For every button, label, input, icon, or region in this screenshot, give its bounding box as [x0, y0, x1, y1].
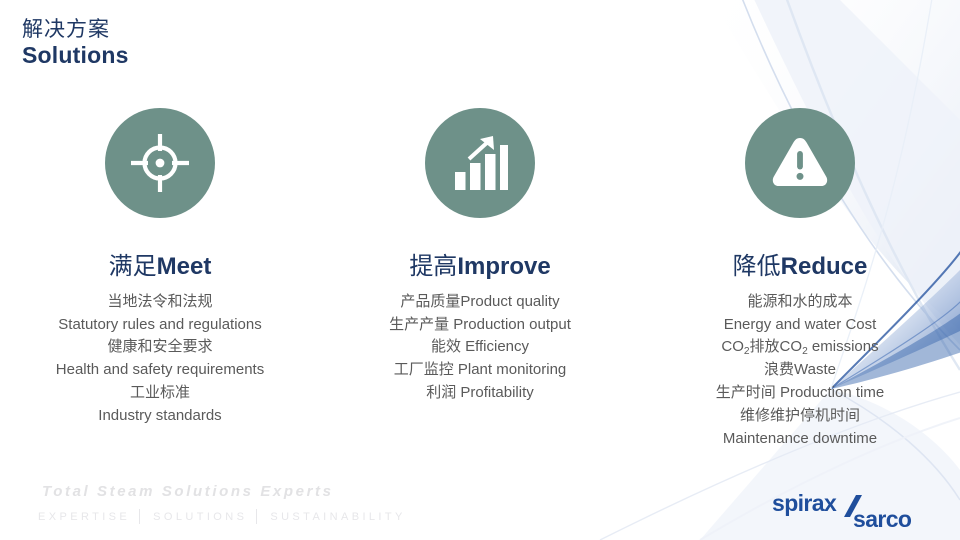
warning-triangle-icon-badge	[745, 108, 855, 218]
footer-pillar-solutions: SOLUTIONS	[153, 511, 247, 523]
solution-column-reduce: 降低Reduce 能源和水的成本 Energy and water Cost C…	[640, 108, 960, 450]
footer-pillar-sustainability: SUSTAINABILITY	[270, 511, 405, 523]
footer-divider	[256, 509, 257, 524]
list-item: 工业标准	[56, 382, 264, 405]
footer-divider	[139, 509, 140, 524]
list-item: 产品质量Product quality	[389, 291, 571, 314]
list-item: 利润 Profitability	[389, 382, 571, 405]
bar-chart-growth-icon-badge	[425, 108, 535, 218]
solution-column-meet: 满足Meet 当地法令和法规 Statutory rules and regul…	[0, 108, 320, 450]
list-item: 能效 Efficiency	[389, 336, 571, 359]
list-item: 浪费Waste	[716, 359, 884, 382]
list-item: 工厂监控 Plant monitoring	[389, 359, 571, 382]
list-item: 维修维护停机时间	[716, 405, 884, 428]
list-item: Energy and water Cost	[716, 314, 884, 337]
solution-column-improve: 提高Improve 产品质量Product quality 生产产量 Produ…	[320, 108, 640, 450]
list-item: 生产时间 Production time	[716, 382, 884, 405]
slide-canvas: 解决方案 Solutions 满足	[0, 0, 960, 540]
column-lines-improve: 产品质量Product quality 生产产量 Production outp…	[389, 291, 571, 405]
logo-text-sarco: sarco	[853, 506, 912, 532]
column-heading-improve: 提高Improve	[409, 253, 550, 282]
column-heading-improve-en: Improve	[457, 253, 550, 280]
footer-pillar-expertise: EXPERTISE	[38, 511, 130, 523]
list-item: 健康和安全要求	[56, 336, 264, 359]
target-icon-badge	[105, 108, 215, 218]
list-item: Health and safety requirements	[56, 359, 264, 382]
page-title-chinese: 解决方案	[22, 18, 129, 42]
column-heading-reduce: 降低Reduce	[733, 253, 868, 282]
list-item: 能源和水的成本	[716, 291, 884, 314]
target-icon	[128, 131, 192, 195]
column-heading-meet-cn: 满足	[109, 253, 157, 280]
page-title: 解决方案 Solutions	[22, 18, 129, 68]
list-item: Industry standards	[56, 405, 264, 428]
column-lines-meet: 当地法令和法规 Statutory rules and regulations …	[56, 291, 264, 428]
logo-text-spirax: spirax	[772, 490, 837, 516]
warning-triangle-icon	[768, 131, 832, 195]
column-heading-improve-cn: 提高	[409, 253, 457, 280]
spirax-sarco-logo: spirax sarco	[770, 487, 945, 533]
list-item: 生产产量 Production output	[389, 314, 571, 337]
column-heading-meet-en: Meet	[157, 253, 212, 280]
footer-tagline: Total Steam Solutions Experts	[42, 483, 334, 500]
page-title-english: Solutions	[22, 43, 129, 69]
bar-chart-growth-icon	[449, 132, 511, 194]
list-item-co2: CO2排放CO2 emissions	[716, 336, 884, 359]
list-item: Statutory rules and regulations	[56, 314, 264, 337]
list-item: 当地法令和法规	[56, 291, 264, 314]
column-heading-reduce-en: Reduce	[781, 253, 868, 280]
column-lines-reduce: 能源和水的成本 Energy and water Cost CO2排放CO2 e…	[716, 291, 884, 451]
list-item: Maintenance downtime	[716, 428, 884, 451]
footer-pillars: EXPERTISE SOLUTIONS SUSTAINABILITY	[38, 509, 406, 524]
column-heading-reduce-cn: 降低	[733, 253, 781, 280]
solutions-columns: 满足Meet 当地法令和法规 Statutory rules and regul…	[0, 108, 960, 450]
column-heading-meet: 满足Meet	[109, 253, 212, 282]
